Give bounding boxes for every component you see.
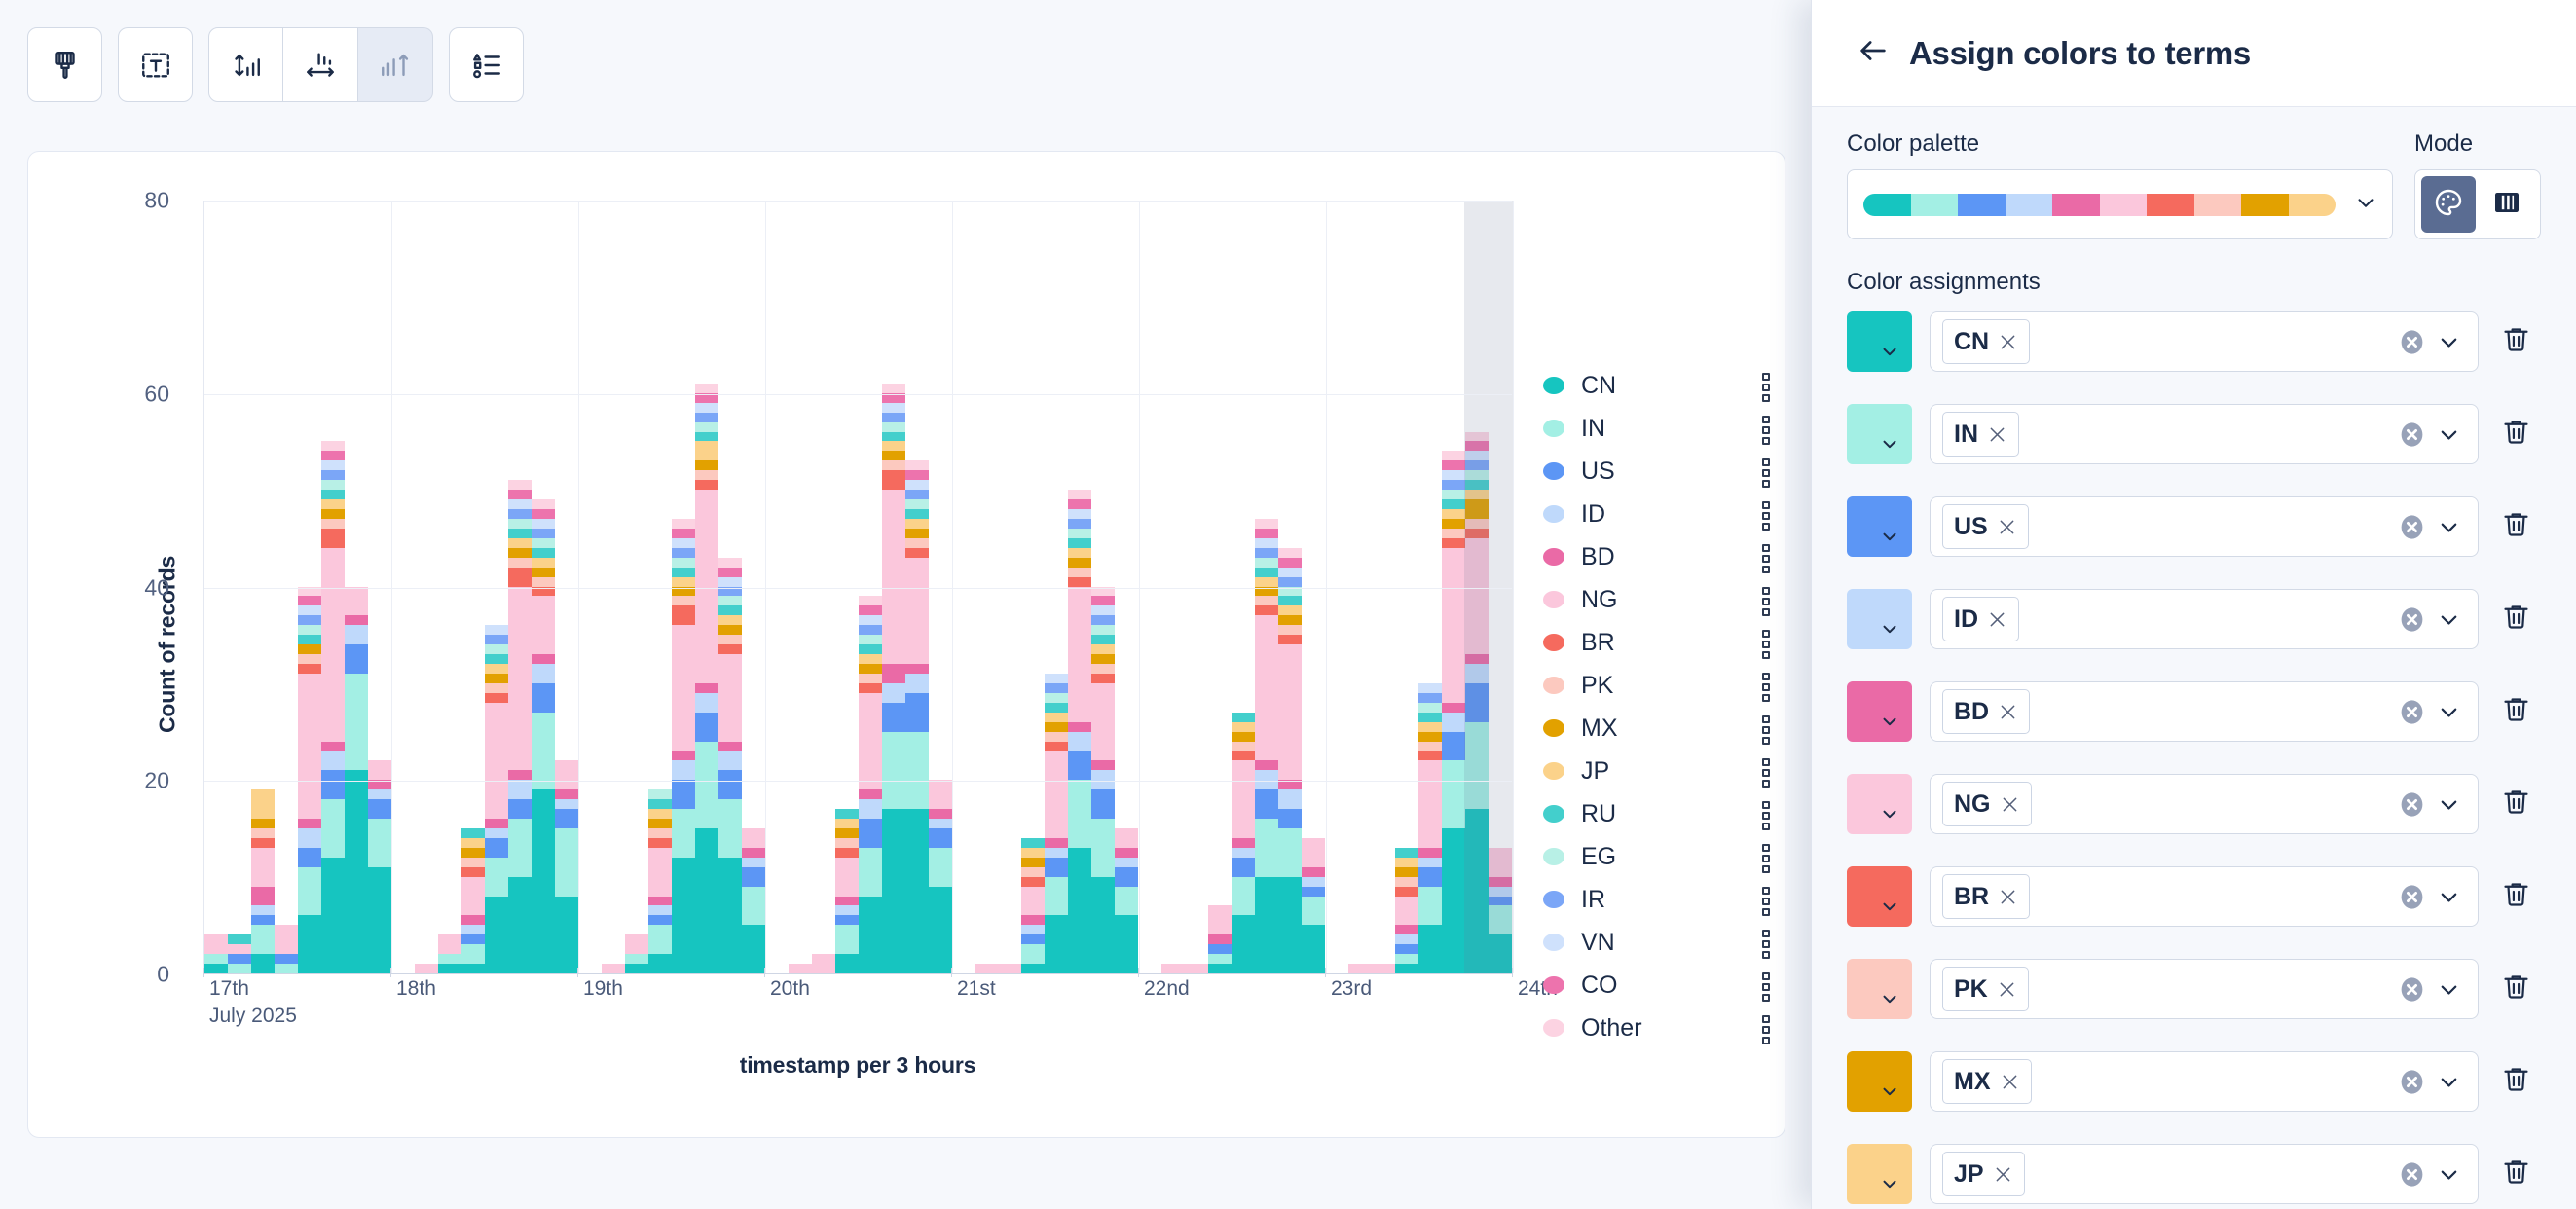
trash-icon (2501, 417, 2531, 452)
bar-segment (672, 809, 695, 858)
bar-segment (1068, 568, 1091, 577)
legend-item-eg[interactable]: EG (1543, 835, 1773, 878)
remove-term-icon[interactable] (1998, 702, 2018, 722)
bar-segment (648, 897, 672, 906)
bar-segment (532, 529, 555, 538)
bar-segment (1045, 722, 1068, 732)
color-assignment-row: PK (1847, 959, 2541, 1019)
bar-segment (1115, 828, 1138, 848)
bar-segment (532, 558, 555, 568)
bar-segment (1185, 964, 1208, 973)
legend-item-vn[interactable]: VN (1543, 921, 1773, 964)
legend-item-ng[interactable]: NG (1543, 578, 1773, 621)
bar-segment (368, 867, 391, 973)
bar-segment (1442, 460, 1465, 470)
chevron-down-icon[interactable] (2436, 1069, 2462, 1095)
bar-segment (1045, 732, 1068, 742)
bar-segment (1442, 451, 1465, 460)
drag-handle-icon[interactable] (1759, 673, 1773, 698)
bar-segment (1068, 577, 1091, 587)
bar-segment (1068, 490, 1091, 499)
horizontal-axis-button[interactable] (283, 27, 358, 102)
bar-segment (859, 625, 882, 635)
bar-segment (251, 828, 275, 838)
style-brush-button[interactable] (27, 27, 102, 102)
term-pill: CN (1942, 319, 2030, 364)
bar-segment (905, 558, 929, 664)
mode-field: Mode (2414, 130, 2541, 239)
bar-segment (1021, 925, 1045, 934)
panel-title: Assign colors to terms (1909, 35, 2251, 72)
term-pill: JP (1942, 1152, 2025, 1196)
bar-segment (298, 625, 321, 635)
legend-color-dot (1543, 848, 1564, 865)
remove-term-icon[interactable] (1998, 332, 2018, 352)
bar-segment (485, 644, 508, 654)
bar-segment (298, 644, 321, 654)
bar-segment (905, 499, 929, 509)
bar-segment (1091, 789, 1115, 819)
x-axis-title: timestamp per 3 hours (203, 1052, 1512, 1079)
chevron-down-icon[interactable] (2436, 329, 2462, 355)
chevron-down-icon[interactable] (2436, 606, 2462, 633)
drag-handle-icon[interactable] (1759, 501, 1773, 527)
clear-selection-icon[interactable] (2398, 698, 2426, 726)
clear-selection-icon[interactable] (2398, 1160, 2426, 1189)
term-combobox[interactable]: PK (1930, 959, 2479, 1019)
bar-segment (485, 683, 508, 693)
bar-segment (835, 828, 859, 838)
drag-handle-icon[interactable] (1759, 844, 1773, 869)
palette-swatch (2289, 194, 2337, 216)
drag-handle-icon[interactable] (1759, 416, 1773, 441)
bar-segment (251, 848, 275, 887)
chevron-down-icon (1879, 896, 1900, 922)
y-tick-label: 40 (101, 574, 169, 601)
bar-segment (672, 558, 695, 568)
bar-segment (438, 934, 461, 954)
delete-assignment-button[interactable] (2490, 404, 2541, 464)
color-swatch-picker[interactable] (1847, 959, 1912, 1019)
term-combobox[interactable]: ID (1930, 589, 2479, 649)
bar-segment (1302, 877, 1325, 887)
clear-selection-icon[interactable] (2398, 605, 2426, 634)
bar-segment (718, 596, 742, 605)
bar-segment (695, 828, 718, 973)
bar-segment (368, 760, 391, 780)
clear-selection-icon[interactable] (2398, 1068, 2426, 1096)
bar-segment (204, 934, 228, 954)
bar-segment (1418, 722, 1442, 732)
bar-segment (1278, 877, 1302, 973)
bar-segment (1278, 809, 1302, 828)
legend-item-ir[interactable]: IR (1543, 878, 1773, 921)
drag-handle-icon[interactable] (1759, 801, 1773, 826)
chevron-down-icon[interactable] (2436, 976, 2462, 1003)
bar-segment (1255, 538, 1278, 548)
chevron-down-icon (1879, 803, 1900, 829)
bar-segment (835, 905, 859, 915)
assign-colors-panel: Assign colors to terms Color palette (1811, 0, 2576, 1209)
bar-segment (1278, 605, 1302, 615)
drag-handle-icon[interactable] (1759, 630, 1773, 655)
chart-card: Count of records 020406080 17thJuly 2025… (27, 151, 1785, 1138)
term-pill-label: JP (1954, 1160, 1984, 1189)
drag-handle-icon[interactable] (1759, 544, 1773, 569)
chart-workspace: Count of records 020406080 17thJuly 2025… (0, 0, 1813, 1209)
x-tick-label: 22nd (1138, 977, 1190, 1001)
bar-segment (648, 915, 672, 925)
bar-segment (532, 789, 555, 973)
color-swatch-picker[interactable] (1847, 311, 1912, 372)
bar-segment (1442, 519, 1465, 529)
bar-segment (1045, 674, 1068, 683)
sort-axis-button[interactable] (358, 27, 433, 102)
bar-segment (298, 674, 321, 819)
bar-segment (1465, 809, 1489, 973)
delete-assignment-button[interactable] (2490, 681, 2541, 742)
text-box-button[interactable] (118, 27, 193, 102)
term-combobox[interactable]: JP (1930, 1144, 2479, 1204)
term-combobox[interactable]: BD (1930, 681, 2479, 742)
bar-segment (1302, 838, 1325, 867)
legend-item-mx[interactable]: MX (1543, 707, 1773, 750)
bar-segment (1021, 887, 1045, 916)
bar-segment (1021, 867, 1045, 877)
bar-segment (508, 548, 532, 558)
bar-segment (508, 480, 532, 490)
term-combobox[interactable]: US (1930, 496, 2479, 557)
bar-segment (1208, 954, 1232, 964)
bar-segment (1395, 964, 1418, 973)
bar-segment (672, 605, 695, 625)
x-tick-label: 20th (764, 977, 810, 1001)
bar-segment (1465, 499, 1489, 519)
bar-segment (1278, 568, 1302, 577)
bar-segment (672, 760, 695, 780)
x-axis-ticks: 17thJuly 202518th19th20th21st22nd23rd24t… (203, 977, 1512, 1045)
bar-segment (718, 577, 742, 587)
bar-segment (1395, 887, 1418, 897)
bar-segment (859, 596, 882, 605)
bar-segment (742, 887, 765, 926)
bar-segment (1232, 751, 1255, 760)
term-pill: BD (1942, 689, 2030, 734)
bar-segment (1208, 905, 1232, 934)
back-button[interactable] (1851, 31, 1895, 76)
bar-segment (485, 897, 508, 974)
color-swatch-picker[interactable] (1847, 866, 1912, 927)
remove-term-icon[interactable] (1998, 887, 2018, 907)
x-tickmark (1138, 968, 1139, 977)
chevron-down-icon (1879, 341, 1900, 367)
bar-segment (742, 858, 765, 867)
bar-segment (1045, 742, 1068, 751)
palette-swatch (2194, 194, 2242, 216)
legend-color-dot (1543, 976, 1564, 994)
bar-segment (251, 954, 275, 973)
bar-segment (485, 625, 508, 635)
legend-item-pk[interactable]: PK (1543, 664, 1773, 707)
bar-segment (1489, 934, 1512, 973)
clear-selection-icon[interactable] (2398, 975, 2426, 1004)
bar-segment (718, 654, 742, 741)
bar-segment (508, 558, 532, 568)
palette-swatch (2241, 194, 2289, 216)
legend-item-id[interactable]: ID (1543, 493, 1773, 535)
remove-term-icon[interactable] (2000, 794, 2020, 815)
bar-segment (532, 568, 555, 577)
bar-segment (695, 490, 718, 683)
delete-assignment-button[interactable] (2490, 774, 2541, 834)
bar-segment (485, 693, 508, 703)
chevron-down-icon (1879, 1173, 1900, 1199)
bar-segment (859, 819, 882, 848)
bar-segment (555, 789, 578, 799)
bar-segment (321, 499, 345, 509)
bar-segment (461, 858, 485, 867)
clear-selection-icon[interactable] (2398, 328, 2426, 356)
legend-item-jp[interactable]: JP (1543, 750, 1773, 792)
bar-segment (532, 683, 555, 713)
bar-segment (1442, 499, 1465, 509)
bar-segment (461, 828, 485, 838)
palette-select[interactable] (1847, 169, 2393, 239)
drag-handle-icon[interactable] (1759, 887, 1773, 912)
bar-segment (532, 596, 555, 654)
day-gridline (1513, 201, 1514, 973)
bar-segment (1278, 577, 1302, 587)
drag-handle-icon[interactable] (1759, 972, 1773, 998)
bar-segment (1465, 490, 1489, 499)
bar-segment (1255, 568, 1278, 577)
bar-segment (1091, 635, 1115, 644)
legend-item-ru[interactable]: RU (1543, 792, 1773, 835)
bar-segment (438, 954, 461, 964)
bar-segment (485, 838, 508, 858)
bar-segment (1255, 819, 1278, 877)
legend-item-bd[interactable]: BD (1543, 535, 1773, 578)
legend-item-br[interactable]: BR (1543, 621, 1773, 664)
bar-segment (812, 954, 835, 973)
bar-segment (321, 529, 345, 548)
bar-segment (835, 925, 859, 954)
drag-handle-icon[interactable] (1759, 715, 1773, 741)
bar-segment (695, 480, 718, 490)
legend-color-dot (1543, 548, 1564, 566)
legend-color-dot (1543, 719, 1564, 737)
palette-mode-button[interactable] (2421, 176, 2476, 233)
color-swatch-picker[interactable] (1847, 404, 1912, 464)
legend-item-co[interactable]: CO (1543, 964, 1773, 1007)
bar-segment (508, 799, 532, 819)
bar-segment (905, 529, 929, 538)
legend-list-button[interactable] (449, 27, 524, 102)
bar-segment (672, 548, 695, 558)
chevron-down-icon (2353, 190, 2378, 220)
bar-segment (1442, 760, 1465, 828)
bar-segment (461, 934, 485, 944)
bar-segment (1045, 703, 1068, 713)
color-swatch-picker[interactable] (1847, 681, 1912, 742)
bar-segment (1045, 858, 1068, 877)
bar-segment (1255, 548, 1278, 558)
bar-segment (1255, 789, 1278, 819)
arrow-left-icon (1857, 34, 1890, 72)
bar-segment (648, 848, 672, 897)
bar-segment (1395, 848, 1418, 858)
legend-item-label: BR (1581, 629, 1759, 657)
color-swatch-picker[interactable] (1847, 774, 1912, 834)
bar-segment (1489, 905, 1512, 934)
bar-segment (321, 470, 345, 480)
chevron-down-icon (1879, 711, 1900, 737)
bar-segment (298, 828, 321, 848)
bar-segment (905, 674, 929, 693)
delete-assignment-button[interactable] (2490, 496, 2541, 557)
bar-segment (485, 635, 508, 644)
bar-segment (718, 635, 742, 644)
color-assignment-row: US (1847, 496, 2541, 557)
term-combobox[interactable]: NG (1930, 774, 2479, 834)
bar-segment (905, 664, 929, 674)
bar-segment (718, 742, 742, 751)
bar-segment (1091, 770, 1115, 789)
bar-segment (905, 460, 929, 470)
clear-selection-icon[interactable] (2398, 421, 2426, 449)
bar-segment (695, 693, 718, 713)
mode-field-label: Mode (2414, 130, 2541, 158)
legend-color-dot (1543, 891, 1564, 908)
bar-segment (1068, 722, 1091, 732)
remove-term-icon[interactable] (1997, 979, 2017, 1000)
bar-segment (321, 451, 345, 460)
bar-segment (1091, 819, 1115, 877)
legend-item-label: IN (1581, 415, 1759, 443)
legend-color-dot (1543, 505, 1564, 523)
drag-handle-icon[interactable] (1759, 373, 1773, 398)
chevron-down-icon[interactable] (2436, 1161, 2462, 1188)
gradient-columns-icon (2491, 187, 2522, 223)
bar-segment (998, 964, 1021, 973)
clear-selection-icon[interactable] (2398, 790, 2426, 819)
delete-assignment-button[interactable] (2490, 311, 2541, 372)
bar-segment (1395, 925, 1418, 934)
clear-selection-icon[interactable] (2398, 883, 2426, 911)
bar-segment (532, 713, 555, 790)
term-combobox[interactable]: MX (1930, 1051, 2479, 1112)
bar-segment (1208, 964, 1232, 973)
drag-handle-icon[interactable] (1759, 758, 1773, 784)
drag-handle-icon[interactable] (1759, 458, 1773, 484)
remove-term-icon[interactable] (2000, 1072, 2020, 1092)
color-swatch-picker[interactable] (1847, 589, 1912, 649)
bar-segment (859, 635, 882, 644)
bar-segment (508, 877, 532, 973)
delete-assignment-button[interactable] (2490, 1144, 2541, 1204)
delete-assignment-button[interactable] (2490, 1051, 2541, 1112)
bar-segment (555, 760, 578, 789)
bar-segment (1395, 944, 1418, 954)
delete-assignment-button[interactable] (2490, 866, 2541, 927)
bar-segment (1068, 509, 1091, 519)
chevron-down-icon[interactable] (2436, 421, 2462, 448)
bar-segment (532, 499, 555, 509)
bar-segment (415, 964, 438, 973)
remove-term-icon[interactable] (1997, 517, 2017, 537)
color-swatch-picker[interactable] (1847, 1051, 1912, 1112)
bar-segment (1302, 925, 1325, 973)
y-tick-label: 20 (101, 768, 169, 794)
chevron-down-icon[interactable] (2436, 791, 2462, 818)
chevron-down-icon[interactable] (2436, 884, 2462, 910)
sort-axis-icon (379, 49, 412, 82)
delete-assignment-button[interactable] (2490, 959, 2541, 1019)
bar-segment (1045, 877, 1068, 916)
bar-segment (1115, 867, 1138, 887)
bar-segment (648, 809, 672, 819)
color-assignment-row: MX (1847, 1051, 2541, 1112)
palette-swatch (1863, 194, 1911, 216)
bar-segment (859, 789, 882, 799)
bar-segment (485, 819, 508, 828)
drag-handle-icon[interactable] (1759, 1015, 1773, 1041)
term-combobox[interactable]: BR (1930, 866, 2479, 927)
bar-segment (321, 858, 345, 973)
delete-assignment-button[interactable] (2490, 589, 2541, 649)
remove-term-icon[interactable] (1987, 424, 2007, 445)
color-swatch-picker[interactable] (1847, 496, 1912, 557)
term-combobox[interactable]: CN (1930, 311, 2479, 372)
remove-term-icon[interactable] (1993, 1164, 2013, 1185)
drag-handle-icon[interactable] (1759, 930, 1773, 955)
drag-handle-icon[interactable] (1759, 587, 1773, 612)
legend-item-cn[interactable]: CN (1543, 364, 1773, 407)
bar-segment (1465, 722, 1489, 809)
bar-segment (672, 568, 695, 577)
bar-segment (1255, 529, 1278, 538)
bar-segment (905, 548, 929, 558)
bar-segment (905, 490, 929, 499)
bar-segment (905, 693, 929, 732)
chevron-down-icon[interactable] (2436, 514, 2462, 540)
color-swatch-picker[interactable] (1847, 1144, 1912, 1204)
chevron-down-icon[interactable] (2436, 699, 2462, 725)
bar-segment (905, 538, 929, 548)
bar-segment (1442, 490, 1465, 499)
term-pill-label: BR (1954, 883, 1989, 911)
bar-segment (625, 934, 648, 954)
bar-segment (298, 848, 321, 867)
legend-item-in[interactable]: IN (1543, 407, 1773, 450)
plot-area (203, 201, 1512, 974)
legend-item-label: MX (1581, 714, 1759, 743)
bar-segment (672, 625, 695, 751)
bar-segment (1115, 887, 1138, 916)
clear-selection-icon[interactable] (2398, 513, 2426, 541)
term-combobox[interactable]: IN (1930, 404, 2479, 464)
legend-item-other[interactable]: Other (1543, 1007, 1773, 1049)
remove-term-icon[interactable] (1987, 609, 2007, 630)
bar-segment (321, 770, 345, 799)
bar-segment (321, 742, 345, 751)
vertical-axis-button[interactable] (208, 27, 283, 102)
horizontal-axis-icon (304, 49, 337, 82)
bar-segment (345, 587, 368, 616)
gradient-mode-button[interactable] (2480, 176, 2534, 233)
x-tickmark (1512, 968, 1513, 977)
legend-item-us[interactable]: US (1543, 450, 1773, 493)
